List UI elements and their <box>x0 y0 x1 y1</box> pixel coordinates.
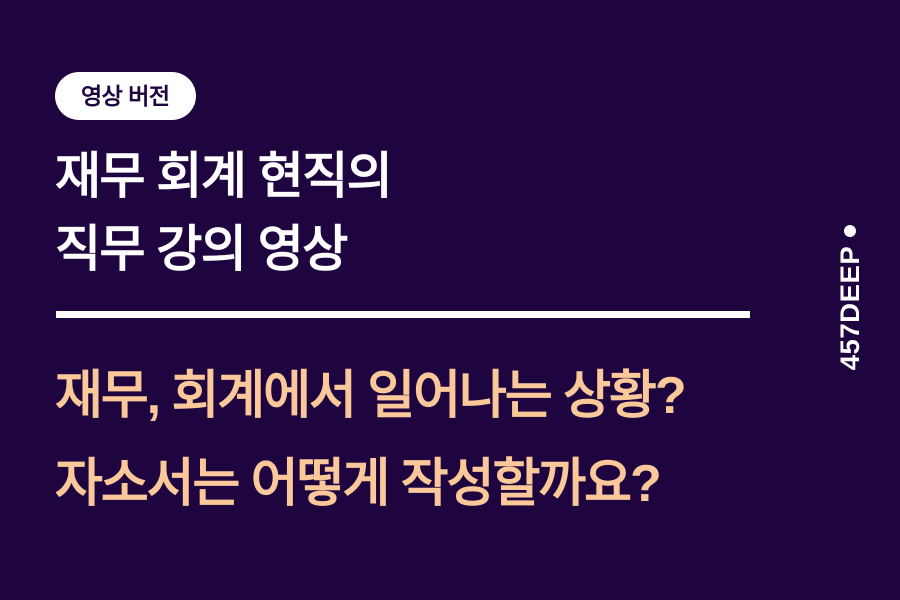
video-version-badge-label: 영상 버전 <box>81 85 170 108</box>
brand-mark: 457DEEP <box>820 225 880 369</box>
subhead-block: 재무, 회계에서 일어나는 상황? 자소서는 어떻게 작성할까요? <box>55 352 845 529</box>
headline-line-2: 직무 강의 영상 <box>55 213 775 286</box>
headline-line-1: 재무 회계 현직의 <box>55 140 775 213</box>
headline-block: 재무 회계 현직의 직무 강의 영상 <box>55 140 775 286</box>
brand-name-vertical: 457DEEP <box>837 246 864 371</box>
subhead-line-1: 재무, 회계에서 일어나는 상황? <box>55 352 845 440</box>
subhead-line-2: 자소서는 어떻게 작성할까요? <box>55 440 845 528</box>
horizontal-divider <box>56 311 750 318</box>
bullet-dot-icon <box>844 225 856 237</box>
poster-canvas: 영상 버전 재무 회계 현직의 직무 강의 영상 재무, 회계에서 일어나는 상… <box>0 0 900 600</box>
video-version-badge: 영상 버전 <box>55 72 196 120</box>
